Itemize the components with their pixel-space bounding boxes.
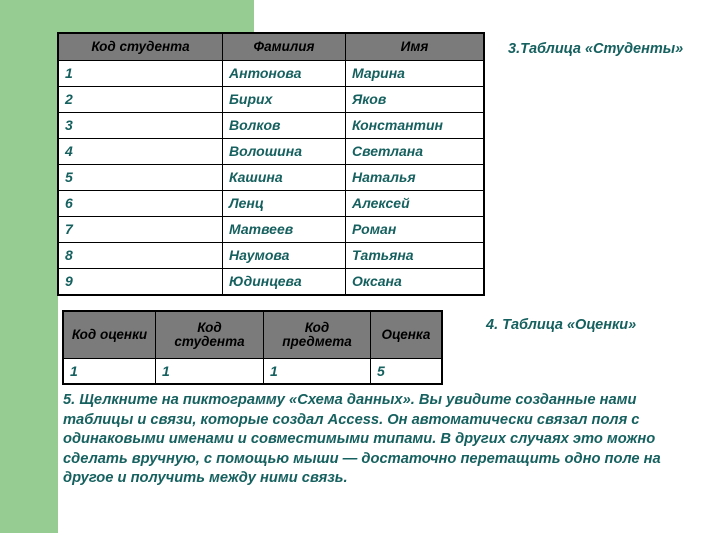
- column-header-grade-code[interactable]: Код оценки: [64, 312, 156, 359]
- table-row[interactable]: 4 Волошина Светлана: [59, 139, 484, 165]
- instruction-paragraph: 5. Щелкните на пиктограмму «Схема данных…: [63, 391, 663, 489]
- cell-student-code[interactable]: 9: [59, 269, 223, 295]
- table-row[interactable]: 6 Ленц Алексей: [59, 191, 484, 217]
- cell-student-code[interactable]: 5: [59, 165, 223, 191]
- table-header-row: Код оценки Код студента Код предмета Оце…: [64, 312, 442, 359]
- cell-first-name[interactable]: Марина: [346, 61, 484, 87]
- decor-green-top-block: [0, 0, 254, 34]
- cell-student-code[interactable]: 4: [59, 139, 223, 165]
- column-header-grade[interactable]: Оценка: [371, 312, 442, 359]
- table-row[interactable]: 3 Волков Константин: [59, 113, 484, 139]
- cell-first-name[interactable]: Татьяна: [346, 243, 484, 269]
- cell-last-name[interactable]: Наумова: [223, 243, 346, 269]
- cell-grade[interactable]: 5: [371, 359, 442, 384]
- table-row[interactable]: 1 1 1 5: [64, 359, 442, 384]
- cell-first-name[interactable]: Оксана: [346, 269, 484, 295]
- table-row[interactable]: 5 Кашина Наталья: [59, 165, 484, 191]
- grades-table-caption: 4. Таблица «Оценки»: [486, 317, 636, 333]
- cell-last-name[interactable]: Юдинцева: [223, 269, 346, 295]
- cell-last-name[interactable]: Кашина: [223, 165, 346, 191]
- cell-student-code[interactable]: 2: [59, 87, 223, 113]
- table-header-row: Код студента Фамилия Имя: [59, 34, 484, 61]
- decor-green-left-strip: [0, 0, 58, 533]
- cell-first-name[interactable]: Константин: [346, 113, 484, 139]
- cell-first-name[interactable]: Светлана: [346, 139, 484, 165]
- table-row[interactable]: 9 Юдинцева Оксана: [59, 269, 484, 295]
- cell-last-name[interactable]: Бирих: [223, 87, 346, 113]
- cell-student-code[interactable]: 3: [59, 113, 223, 139]
- cell-first-name[interactable]: Алексей: [346, 191, 484, 217]
- slide-canvas: Код студента Фамилия Имя 1 Антонова Мари…: [0, 0, 720, 540]
- students-table[interactable]: Код студента Фамилия Имя 1 Антонова Мари…: [58, 33, 484, 295]
- cell-last-name[interactable]: Волошина: [223, 139, 346, 165]
- cell-student-code[interactable]: 7: [59, 217, 223, 243]
- grades-table[interactable]: Код оценки Код студента Код предмета Оце…: [63, 311, 442, 384]
- table-row[interactable]: 7 Матвеев Роман: [59, 217, 484, 243]
- cell-first-name[interactable]: Наталья: [346, 165, 484, 191]
- cell-student-code[interactable]: 1: [59, 61, 223, 87]
- cell-student-code[interactable]: 8: [59, 243, 223, 269]
- students-table-caption: 3.Таблица «Студенты»: [508, 41, 683, 57]
- cell-subject-code[interactable]: 1: [264, 359, 371, 384]
- column-header-student-code[interactable]: Код студента: [59, 34, 223, 61]
- column-header-last-name[interactable]: Фамилия: [223, 34, 346, 61]
- table-row[interactable]: 2 Бирих Яков: [59, 87, 484, 113]
- cell-first-name[interactable]: Роман: [346, 217, 484, 243]
- cell-student-code[interactable]: 6: [59, 191, 223, 217]
- cell-student-code[interactable]: 1: [156, 359, 264, 384]
- table-row[interactable]: 1 Антонова Марина: [59, 61, 484, 87]
- cell-first-name[interactable]: Яков: [346, 87, 484, 113]
- cell-grade-code[interactable]: 1: [64, 359, 156, 384]
- cell-last-name[interactable]: Ленц: [223, 191, 346, 217]
- table-row[interactable]: 8 Наумова Татьяна: [59, 243, 484, 269]
- column-header-subject-code[interactable]: Код предмета: [264, 312, 371, 359]
- column-header-student-code[interactable]: Код студента: [156, 312, 264, 359]
- cell-last-name[interactable]: Матвеев: [223, 217, 346, 243]
- cell-last-name[interactable]: Волков: [223, 113, 346, 139]
- cell-last-name[interactable]: Антонова: [223, 61, 346, 87]
- column-header-first-name[interactable]: Имя: [346, 34, 484, 61]
